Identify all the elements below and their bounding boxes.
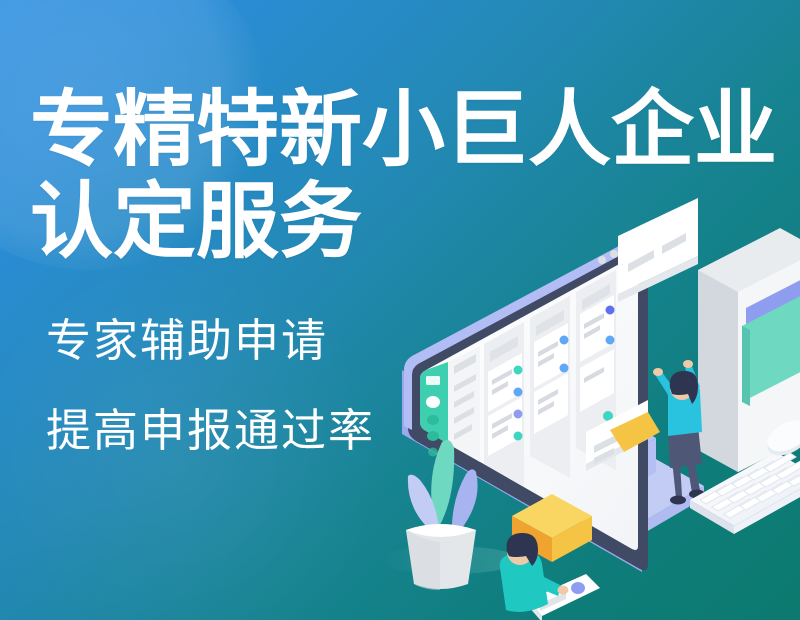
banner-title-line-1: 专精特新小巨人企业 (30, 88, 777, 172)
banner-subtitle-line-1: 专家辅助申请 (46, 318, 328, 363)
banner-title-line-2: 认定服务 (30, 180, 362, 264)
promo-banner: 专精特新小巨人企业 认定服务 专家辅助申请 提高申报通过率 (0, 0, 800, 620)
banner-subtitle-line-2: 提高申报通过率 (46, 408, 375, 453)
banner-copy: 专精特新小巨人企业 认定服务 专家辅助申请 提高申报通过率 (0, 0, 800, 620)
